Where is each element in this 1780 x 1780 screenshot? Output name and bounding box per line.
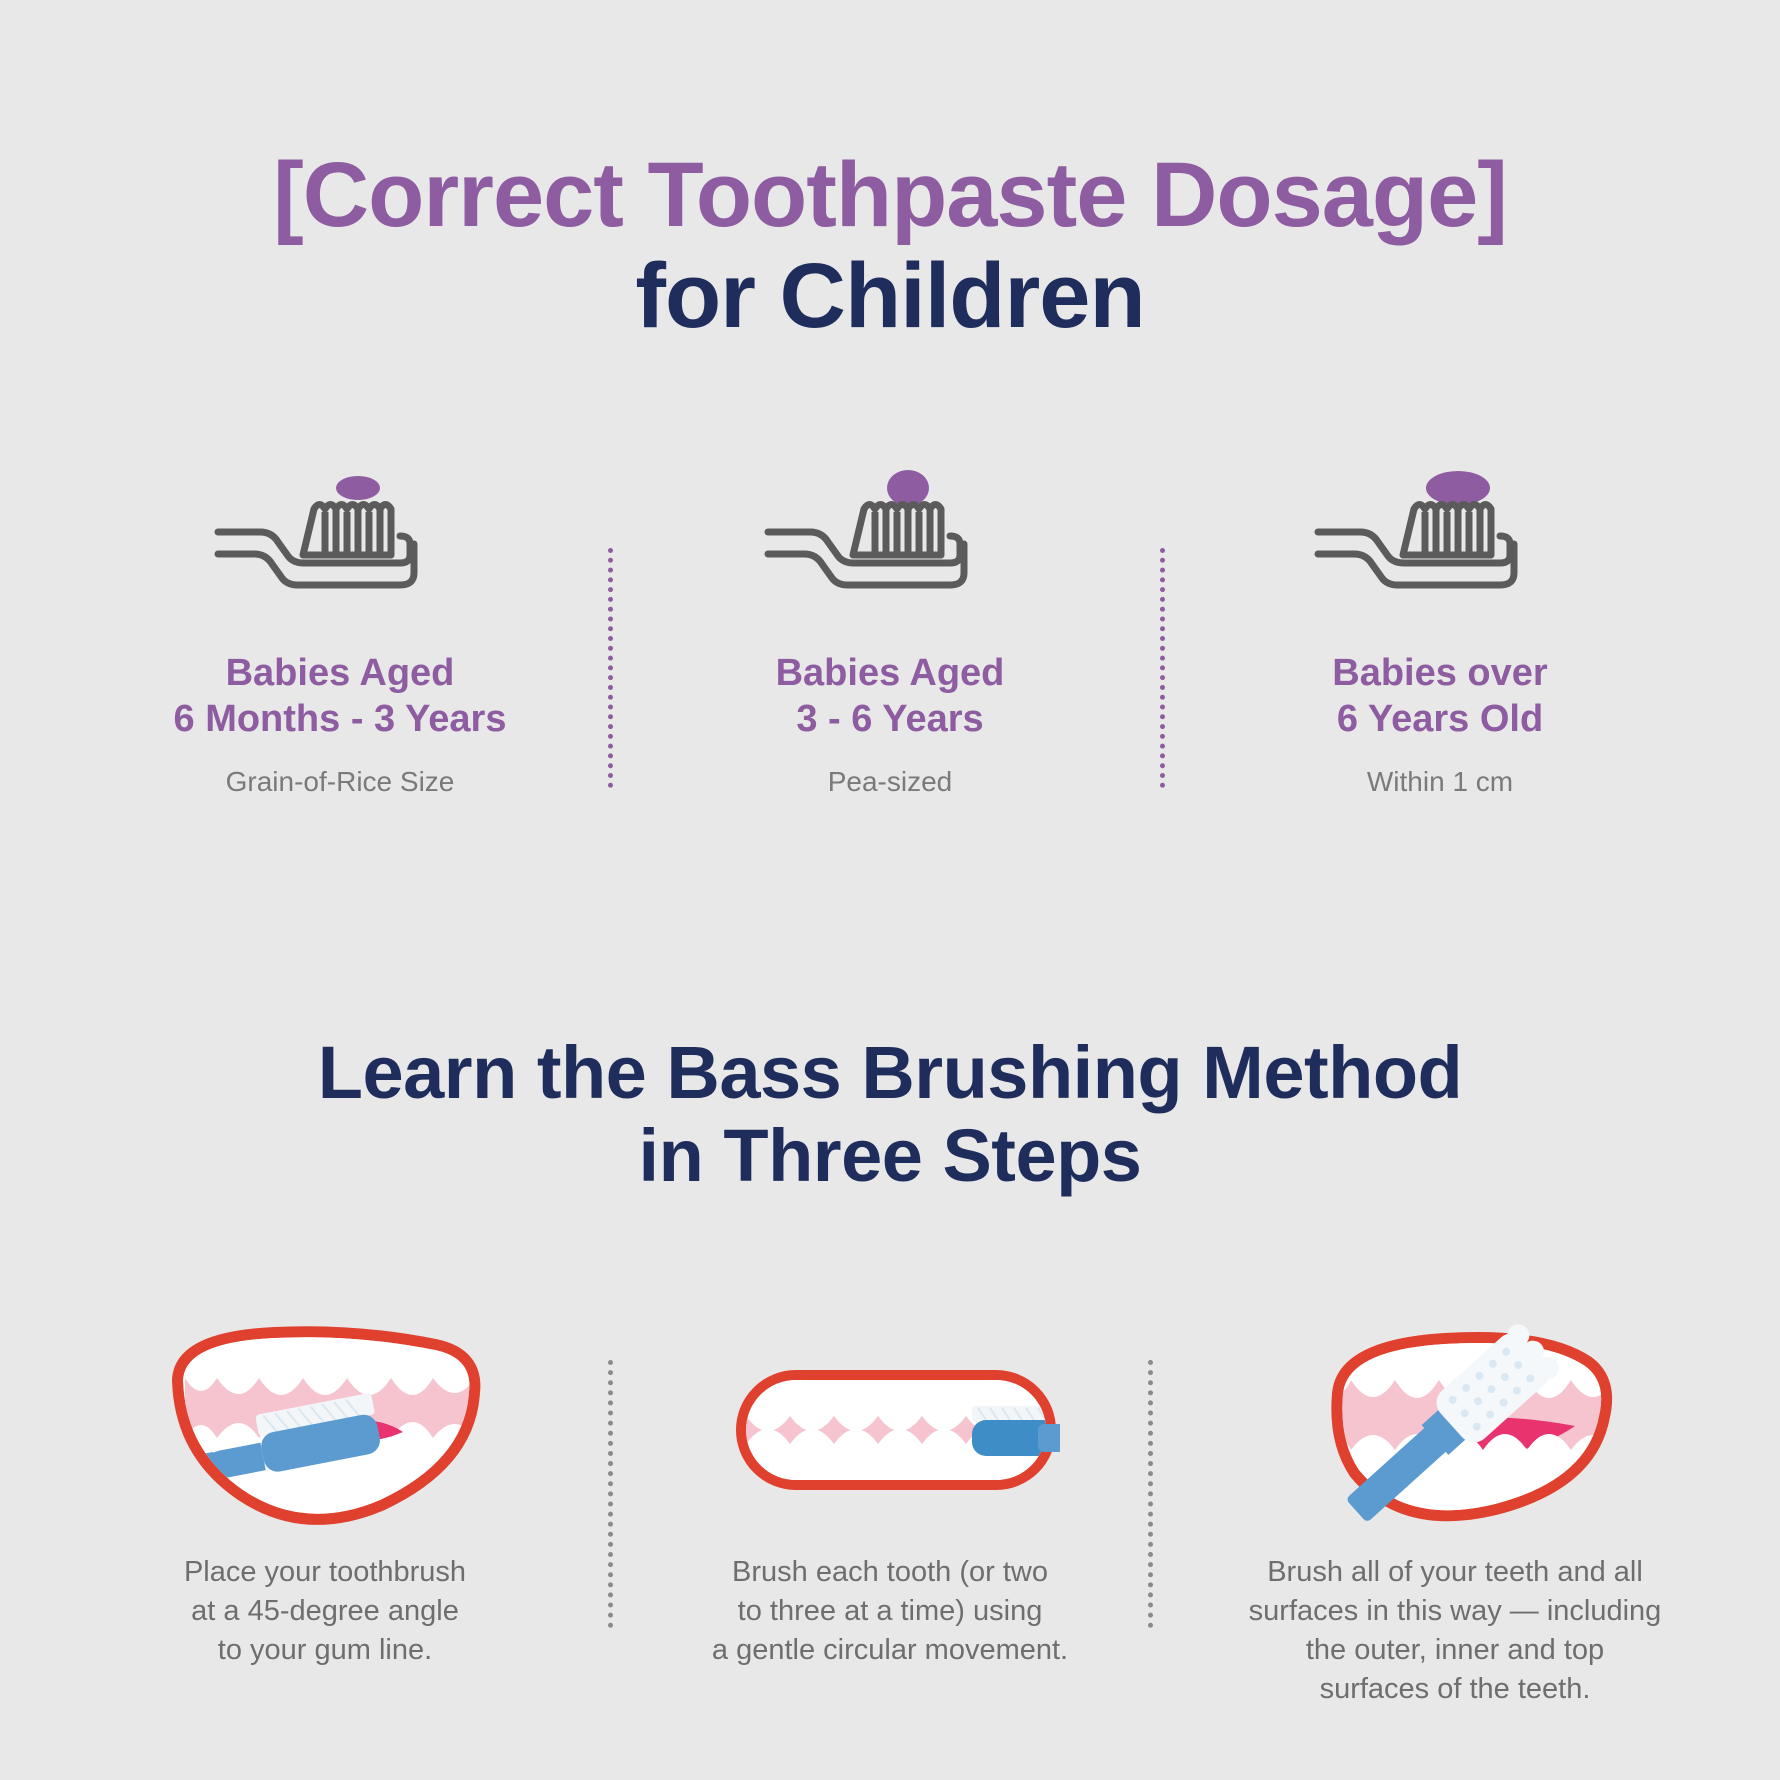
toothpaste-dab — [336, 476, 380, 500]
bristles — [325, 510, 391, 555]
page-title-bracketed: [Correct Toothpaste Dosage] — [0, 148, 1780, 243]
bristles — [1425, 510, 1491, 555]
dosage-amount-label: Grain-of-Rice Size — [90, 765, 590, 799]
mouth-interior — [740, 1375, 1060, 1487]
dosage-amount-label: Within 1 cm — [1190, 765, 1690, 799]
page-title-subject: for Children — [0, 249, 1780, 344]
method-step-1: Place your toothbrush at a 45-degree ang… — [60, 1320, 590, 1670]
method-step-2: Brush each tooth (or two to three at a t… — [625, 1320, 1155, 1670]
mouth-interior — [169, 1330, 485, 1535]
step-caption: Brush each tooth (or two to three at a t… — [625, 1553, 1155, 1670]
toothbrush-icon — [90, 470, 590, 600]
mouth-top-view-svg — [720, 1320, 1060, 1535]
step-caption: Place your toothbrush at a 45-degree ang… — [60, 1553, 590, 1670]
method-section-title: Learn the Bass Brushing Method in Three … — [0, 1032, 1780, 1198]
page-title: [Correct Toothpaste Dosage] for Children — [0, 148, 1780, 344]
mouth-side-view-brushing-icon — [60, 1320, 590, 1535]
toothbrush-icon-svg — [1310, 470, 1570, 600]
mouth-open-svg — [1285, 1320, 1625, 1535]
method-step-3: Brush all of your teeth and all surfaces… — [1190, 1320, 1720, 1710]
toothbrush-icon-svg — [760, 470, 1020, 600]
dosage-age-label: Babies Aged 6 Months - 3 Years — [90, 650, 590, 743]
mouth-open-brushing-icon — [1190, 1320, 1720, 1535]
toothpaste-dab — [887, 470, 929, 506]
dosage-amount-label: Pea-sized — [640, 765, 1140, 799]
toothbrush-icon — [640, 470, 1140, 600]
step-caption: Brush all of your teeth and all surfaces… — [1190, 1553, 1720, 1710]
mouth-side-view-svg — [155, 1320, 495, 1535]
dosage-age-label: Babies over 6 Years Old — [1190, 650, 1690, 743]
dosage-column-6months-3years: Babies Aged 6 Months - 3 Years Grain-of-… — [90, 470, 590, 798]
dosage-column-over-6years: Babies over 6 Years Old Within 1 cm — [1190, 470, 1690, 798]
toothbrush-icon-svg — [210, 470, 470, 600]
brush-handle-outer — [1038, 1424, 1060, 1452]
toothbrush-icon — [1190, 470, 1690, 600]
dosage-section: Babies Aged 6 Months - 3 Years Grain-of-… — [90, 470, 1690, 798]
method-steps-section: Place your toothbrush at a 45-degree ang… — [60, 1320, 1720, 1710]
dosage-column-3-6years: Babies Aged 3 - 6 Years Pea-sized — [640, 470, 1140, 798]
dosage-age-label: Babies Aged 3 - 6 Years — [640, 650, 1140, 743]
mouth-top-view-brushing-icon — [625, 1320, 1155, 1535]
toothpaste-dab — [1426, 471, 1490, 505]
infographic-page: [Correct Toothpaste Dosage] for Children — [0, 0, 1780, 1780]
bristles — [875, 510, 941, 555]
